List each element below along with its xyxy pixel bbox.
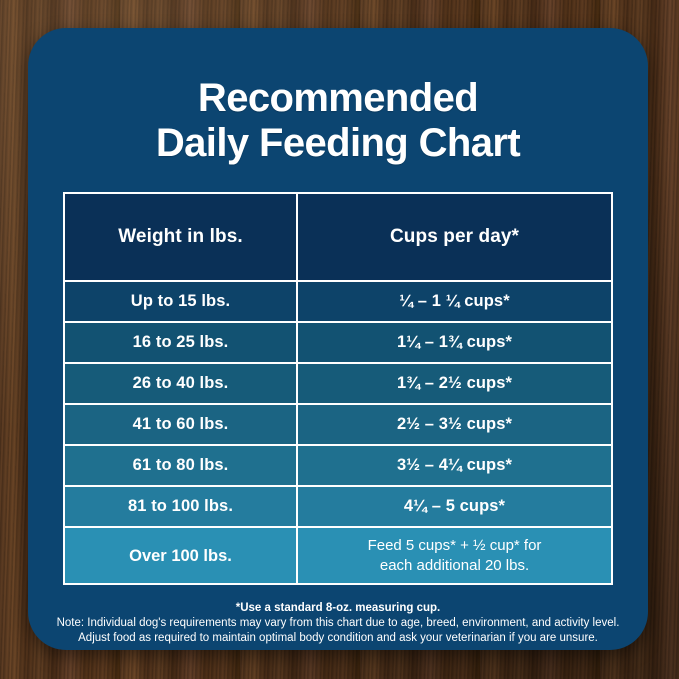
footnote-adjust-note: Adjust food as required to maintain opti… [46,631,630,646]
cell-cups: 1¾ – 2½ cups* [297,363,612,404]
cell-cups: 2½ – 3½ cups* [297,404,612,445]
cell-cups-line-2: each additional 20 lbs. [380,557,529,574]
cell-weight: Over 100 lbs. [64,527,297,584]
cell-cups: 1¼ – 1¾ cups* [297,322,612,363]
cell-cups: 4¼ – 5 cups* [297,486,612,527]
table-row: 81 to 100 lbs.4¼ – 5 cups* [64,486,612,527]
table-body: Up to 15 lbs.¼ – 1 ¼ cups*16 to 25 lbs.1… [64,281,612,584]
footnote-measuring-cup: *Use a standard 8-oz. measuring cup. [46,601,630,616]
cell-cups: ¼ – 1 ¼ cups* [297,281,612,322]
cell-cups: Feed 5 cups* + ½ cup* foreach additional… [297,527,612,584]
cell-weight: 61 to 80 lbs. [64,445,297,486]
column-header-weight: Weight in lbs. [64,193,297,281]
cell-weight: 16 to 25 lbs. [64,322,297,363]
cell-weight: 26 to 40 lbs. [64,363,297,404]
page-title-line-1: Recommended [198,76,478,120]
table-row: 26 to 40 lbs.1¾ – 2½ cups* [64,363,612,404]
feeding-chart-table: Weight in lbs. Cups per day* Up to 15 lb… [63,192,613,585]
cell-cups-line-1: Feed 5 cups* + ½ cup* for [368,537,542,554]
cell-weight: 41 to 60 lbs. [64,404,297,445]
page-title-line-2: Daily Feeding Chart [28,121,648,166]
table-row-over-100: Over 100 lbs.Feed 5 cups* + ½ cup* forea… [64,527,612,584]
table-row: Up to 15 lbs.¼ – 1 ¼ cups* [64,281,612,322]
background-surface: Recommended Daily Feeding Chart Weight i… [0,0,679,679]
table-row: 41 to 60 lbs.2½ – 3½ cups* [64,404,612,445]
column-header-cups: Cups per day* [297,193,612,281]
table-header-row: Weight in lbs. Cups per day* [64,193,612,281]
table-row: 61 to 80 lbs.3½ – 4¼ cups* [64,445,612,486]
footnote-variation-note: Note: Individual dog's requirements may … [46,616,630,631]
footnotes: *Use a standard 8-oz. measuring cup. Not… [28,601,648,646]
table-row: 16 to 25 lbs.1¼ – 1¾ cups* [64,322,612,363]
cell-cups: 3½ – 4¼ cups* [297,445,612,486]
page-title: Recommended Daily Feeding Chart [28,28,648,166]
cell-weight: Up to 15 lbs. [64,281,297,322]
feeding-chart-card: Recommended Daily Feeding Chart Weight i… [28,28,648,650]
cell-weight: 81 to 100 lbs. [64,486,297,527]
